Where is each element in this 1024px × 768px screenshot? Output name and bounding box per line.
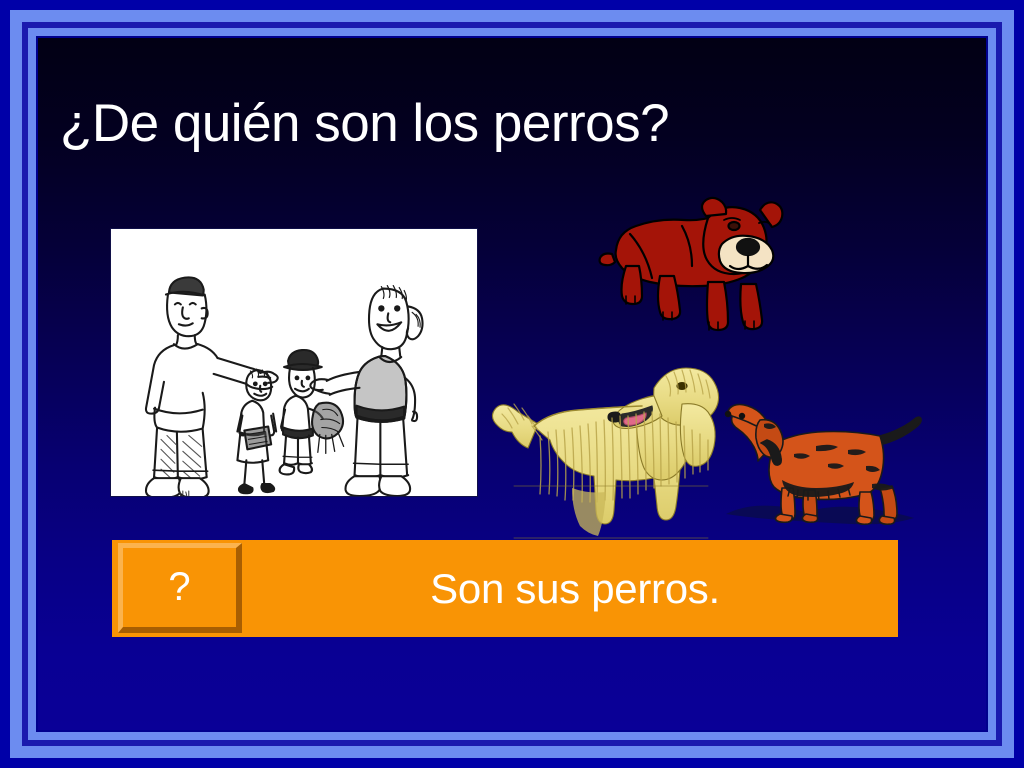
- page-title: ¿De quién son los perros?: [60, 96, 940, 152]
- answer-text: Son sus perros.: [252, 540, 898, 637]
- people-pointing-clipart: [110, 228, 478, 497]
- dachshund-image: [720, 388, 935, 540]
- reveal-answer-button[interactable]: ?: [118, 543, 242, 633]
- slide-canvas: ¿De quién son los perros?: [38, 38, 986, 730]
- bulldog-image: [596, 190, 806, 358]
- answer-bar[interactable]: ? Son sus perros.: [112, 540, 898, 637]
- slide-root: ¿De quién son los perros?: [0, 0, 1024, 768]
